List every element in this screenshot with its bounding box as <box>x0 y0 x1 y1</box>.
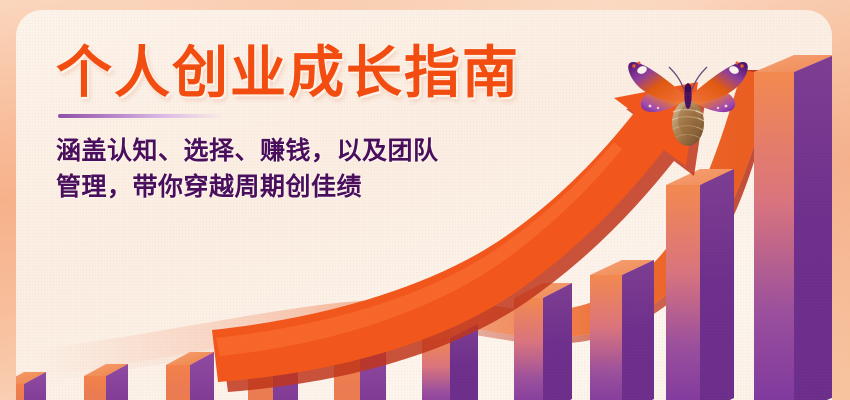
cocoon-icon <box>672 97 704 146</box>
content-card: 个人创业成长指南 涵盖认知、选择、赚钱，以及团队 管理，带你穿越周期创佳绩 <box>16 10 832 400</box>
headline-block: 个人创业成长指南 涵盖认知、选择、赚钱，以及团队 管理，带你穿越周期创佳绩 <box>56 44 666 205</box>
bar-10 <box>754 55 832 400</box>
bar-1 <box>16 372 46 400</box>
promo-banner: 个人创业成长指南 涵盖认知、选择、赚钱，以及团队 管理，带你穿越周期创佳绩 <box>0 0 850 400</box>
bar-8 <box>590 260 654 400</box>
bar-5 <box>334 345 386 400</box>
bar-7 <box>514 283 572 400</box>
page-title: 个人创业成长指南 <box>56 44 666 102</box>
page-subtitle: 涵盖认知、选择、赚钱，以及团队 管理，带你穿越周期创佳绩 <box>56 133 666 205</box>
bar-2 <box>84 364 128 400</box>
bar-9 <box>666 169 734 400</box>
bar-4 <box>248 347 298 400</box>
subtitle-line-2: 管理，带你穿越周期创佳绩 <box>56 169 666 205</box>
bar-6 <box>422 324 478 400</box>
bar-3 <box>166 352 214 400</box>
title-divider <box>58 114 224 118</box>
subtitle-line-1: 涵盖认知、选择、赚钱，以及团队 <box>56 133 666 169</box>
